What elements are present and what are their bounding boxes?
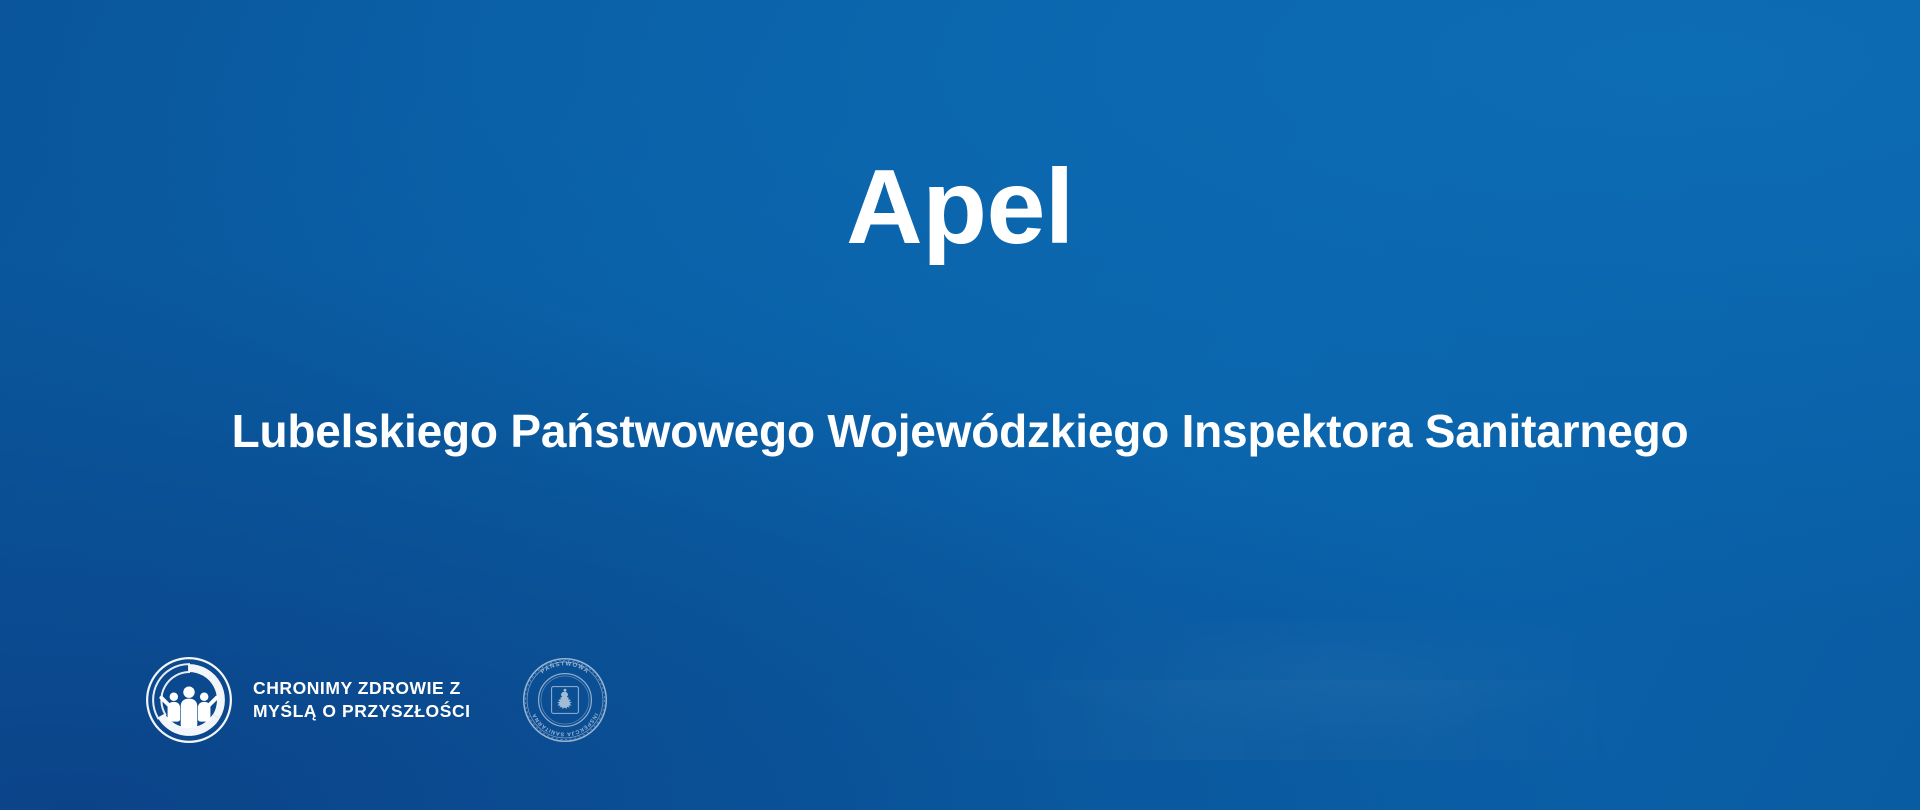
slide-footer: CHRONIMY ZDROWIE Z MYŚLĄ O PRZYSZŁOŚCI xyxy=(143,652,613,748)
brand-tagline-line-2: MYŚLĄ O PRZYSZŁOŚCI xyxy=(253,700,471,723)
background-artifact xyxy=(1050,620,1570,740)
background-artifact-secondary xyxy=(930,680,1630,760)
panstwowa-inspekcja-sanitarna-seal-icon: PAŃSTWOWA INSPEKCJA SANITARNA xyxy=(517,652,613,748)
presentation-slide: Apel Lubelskiego Państwowego Wojewódzkie… xyxy=(0,0,1920,810)
page-subtitle: Lubelskiego Państwowego Wojewódzkiego In… xyxy=(0,405,1920,458)
brand-tagline-line-1: CHRONIMY ZDROWIE Z xyxy=(253,677,471,700)
chronimy-zdrowie-logo-icon xyxy=(143,654,235,746)
brand-tagline: CHRONIMY ZDROWIE Z MYŚLĄ O PRZYSZŁOŚCI xyxy=(253,677,471,723)
page-title: Apel xyxy=(0,152,1920,263)
